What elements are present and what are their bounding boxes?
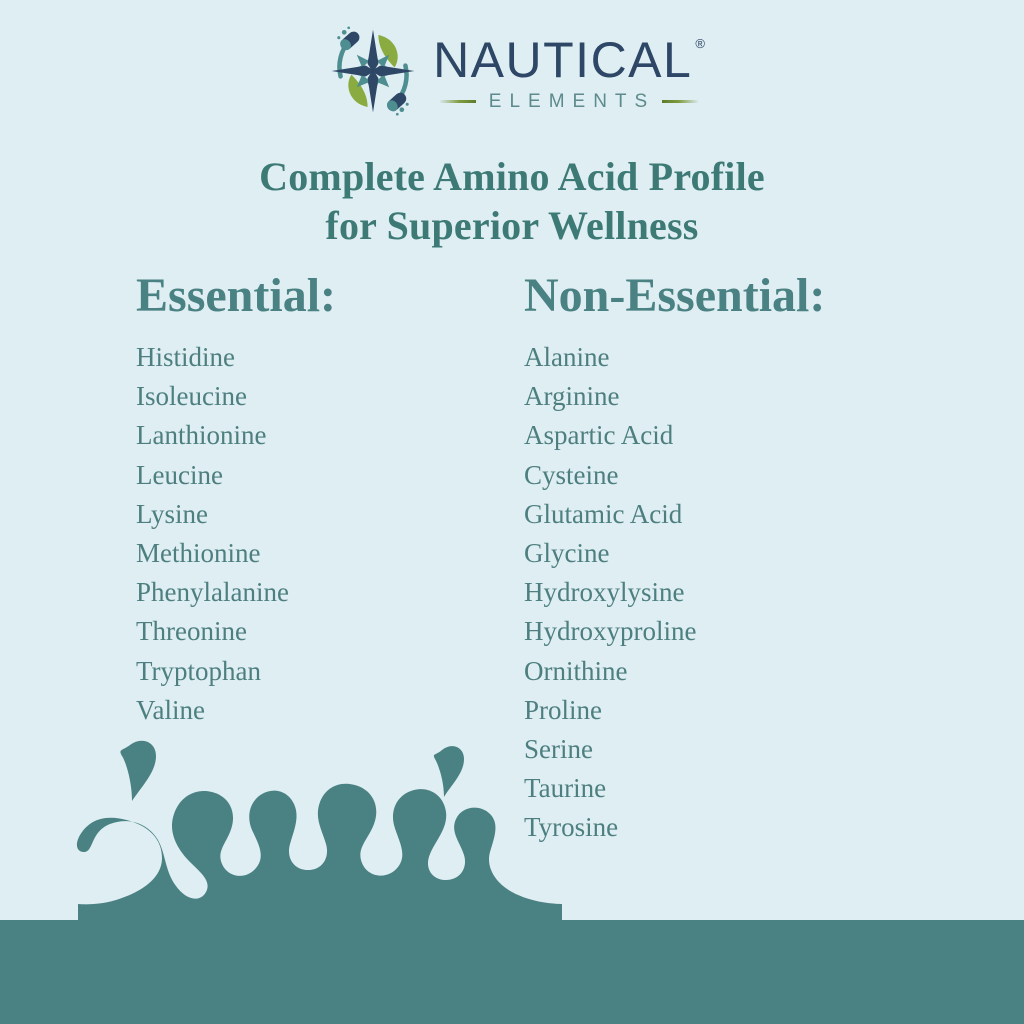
brand-tagline: ELEMENTS: [483, 92, 655, 111]
amino-acid-item: Lysine: [136, 495, 336, 534]
amino-acid-item: Glutamic Acid: [524, 495, 825, 534]
page-title: Complete Amino Acid Profile for Superior…: [0, 152, 1024, 250]
amino-acid-item: Hydroxyproline: [524, 612, 825, 651]
essential-amino-acid-list: HistidineIsoleucineLanthionineLeucineLys…: [136, 338, 336, 730]
non-essential-column-title: Non-Essential:: [524, 272, 825, 320]
amino-acid-item: Tyrosine: [524, 808, 825, 847]
tagline-rule-left-icon: [440, 100, 476, 103]
amino-acid-item: Arginine: [524, 377, 825, 416]
amino-acid-item: Serine: [524, 730, 825, 769]
non-essential-amino-acid-list: AlanineArginineAspartic AcidCysteineGlut…: [524, 338, 825, 848]
footer-band: [0, 920, 1024, 1024]
amino-acid-item: Histidine: [136, 338, 336, 377]
amino-acid-item: Taurine: [524, 769, 825, 808]
amino-acid-item: Valine: [136, 691, 336, 730]
liquid-splash-icon: [70, 700, 570, 930]
page-title-line-2: for Superior Wellness: [0, 201, 1024, 250]
amino-acid-item: Lanthionine: [136, 416, 336, 455]
registered-trademark-icon: ®: [695, 37, 705, 50]
non-essential-column: Non-Essential: AlanineArginineAspartic A…: [524, 272, 825, 848]
amino-acid-item: Tryptophan: [136, 652, 336, 691]
amino-acid-item: Leucine: [136, 456, 336, 495]
amino-acid-item: Threonine: [136, 612, 336, 651]
amino-acid-item: Isoleucine: [136, 377, 336, 416]
amino-acid-item: Methionine: [136, 534, 336, 573]
amino-acid-item: Glycine: [524, 534, 825, 573]
tagline-rule-right-icon: [662, 100, 698, 103]
brand-logo: NAUTICAL ® ELEMENTS: [0, 16, 1024, 126]
infographic-page: NAUTICAL ® ELEMENTS Complete Amino Acid …: [0, 0, 1024, 1024]
essential-column-title: Essential:: [136, 272, 336, 320]
brand-name: NAUTICAL: [433, 35, 692, 85]
brand-wordmark: NAUTICAL ® ELEMENTS: [433, 31, 705, 111]
amino-acid-item: Proline: [524, 691, 825, 730]
amino-acid-item: Cysteine: [524, 456, 825, 495]
amino-acid-item: Alanine: [524, 338, 825, 377]
compass-rose-leaf-icon: [319, 17, 427, 125]
amino-acid-item: Phenylalanine: [136, 573, 336, 612]
amino-acid-item: Aspartic Acid: [524, 416, 825, 455]
page-title-line-1: Complete Amino Acid Profile: [0, 152, 1024, 201]
amino-acid-item: Hydroxylysine: [524, 573, 825, 612]
essential-column: Essential: HistidineIsoleucineLanthionin…: [136, 272, 336, 730]
amino-acid-item: Ornithine: [524, 652, 825, 691]
